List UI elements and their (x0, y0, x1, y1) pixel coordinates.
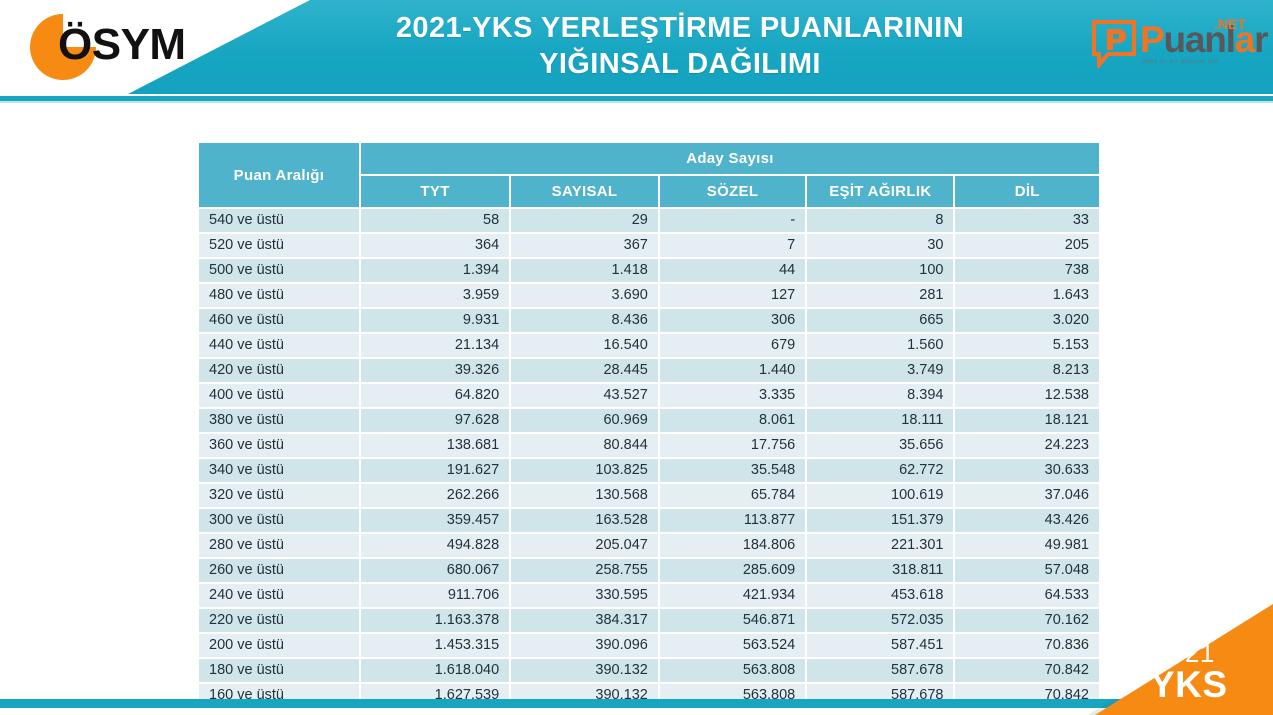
cell-count-sayisal: 60.969 (511, 409, 658, 432)
cell-count-sayisal: 330.595 (511, 584, 658, 607)
cell-count-eşi̇t-ağirlik: 572.035 (807, 609, 953, 632)
cell-count-eşi̇t-ağirlik: 151.379 (807, 509, 953, 532)
table-head: Puan Aralığı Aday Sayısı TYT SAYISAL SÖZ… (199, 143, 1099, 207)
page-title-line-1: 2021-YKS YERLEŞTİRME PUANLARININ (300, 10, 1060, 46)
cell-count-di̇l: 8.213 (955, 359, 1099, 382)
cell-count-sayisal: 16.540 (511, 334, 658, 357)
cell-score-range: 280 ve üstü (199, 534, 359, 557)
cell-count-di̇l: 3.020 (955, 309, 1099, 332)
osym-logo[interactable]: ÖSYM (30, 8, 240, 86)
footer-bar (0, 699, 1273, 708)
cell-count-sayisal: 3.690 (511, 284, 658, 307)
table-row: 420 ve üstü39.32628.4451.4403.7498.213 (199, 359, 1099, 382)
cell-count-sözel: - (660, 209, 805, 232)
cell-score-range: 460 ve üstü (199, 309, 359, 332)
table-row: 340 ve üstü191.627103.82535.54862.77230.… (199, 459, 1099, 482)
cell-count-sayisal: 384.317 (511, 609, 658, 632)
column-header-candidate-count: Aday Sayısı (361, 143, 1099, 174)
puanlar-tagline: daha iyi bir gelecek için (1142, 59, 1219, 65)
cell-score-range: 400 ve üstü (199, 384, 359, 407)
cell-count-eşi̇t-ağirlik: 318.811 (807, 559, 953, 582)
cell-score-range: 440 ve üstü (199, 334, 359, 357)
cell-count-di̇l: 24.223 (955, 434, 1099, 457)
cell-count-sözel: 679 (660, 334, 805, 357)
cell-count-sözel: 1.440 (660, 359, 805, 382)
cell-count-sözel: 306 (660, 309, 805, 332)
table-row: 400 ve üstü64.82043.5273.3358.39412.538 (199, 384, 1099, 407)
column-header-score-range: Puan Aralığı (199, 143, 359, 207)
puanlar-wordmark-r: r (1254, 19, 1267, 60)
cell-score-range: 360 ve üstü (199, 434, 359, 457)
cell-count-eşi̇t-ağirlik: 8.394 (807, 384, 953, 407)
cell-count-di̇l: 70.836 (955, 634, 1099, 657)
table-row: 440 ve üstü21.13416.5406791.5605.153 (199, 334, 1099, 357)
cell-count-sözel: 546.871 (660, 609, 805, 632)
cell-score-range: 480 ve üstü (199, 284, 359, 307)
cell-count-eşi̇t-ağirlik: 665 (807, 309, 953, 332)
table-row: 380 ve üstü97.62860.9698.06118.11118.121 (199, 409, 1099, 432)
cell-count-tyt: 680.067 (361, 559, 509, 582)
cell-count-di̇l: 70.162 (955, 609, 1099, 632)
table-body: 540 ve üstü5829-833520 ve üstü3643677302… (199, 209, 1099, 707)
page-title-line-2: YIĞINSAL DAĞILIMI (300, 46, 1060, 82)
page-title: 2021-YKS YERLEŞTİRME PUANLARININ YIĞINSA… (300, 10, 1060, 82)
puanlar-wordmark-p: P (1140, 19, 1163, 60)
column-header-tyt: TYT (361, 176, 509, 207)
cell-count-sayisal: 258.755 (511, 559, 658, 582)
cell-count-tyt: 21.134 (361, 334, 509, 357)
cell-count-tyt: 97.628 (361, 409, 509, 432)
cell-score-range: 300 ve üstü (199, 509, 359, 532)
cell-score-range: 540 ve üstü (199, 209, 359, 232)
table-row: 300 ve üstü359.457163.528113.877151.3794… (199, 509, 1099, 532)
cell-count-eşi̇t-ağirlik: 30 (807, 234, 953, 257)
cell-count-eşi̇t-ağirlik: 3.749 (807, 359, 953, 382)
cell-count-tyt: 911.706 (361, 584, 509, 607)
cell-count-eşi̇t-ağirlik: 1.560 (807, 334, 953, 357)
cell-count-sayisal: 205.047 (511, 534, 658, 557)
table-row: 480 ve üstü3.9593.6901272811.643 (199, 284, 1099, 307)
cell-count-di̇l: 18.121 (955, 409, 1099, 432)
cell-count-sözel: 35.548 (660, 459, 805, 482)
cell-count-eşi̇t-ağirlik: 100.619 (807, 484, 953, 507)
cell-count-sözel: 113.877 (660, 509, 805, 532)
cell-count-tyt: 494.828 (361, 534, 509, 557)
cell-count-di̇l: 12.538 (955, 384, 1099, 407)
cell-score-range: 220 ve üstü (199, 609, 359, 632)
cell-count-sayisal: 390.132 (511, 659, 658, 682)
cell-count-sayisal: 367 (511, 234, 658, 257)
cell-count-sayisal: 163.528 (511, 509, 658, 532)
table-row: 260 ve üstü680.067258.755285.609318.8115… (199, 559, 1099, 582)
cell-score-range: 240 ve üstü (199, 584, 359, 607)
cell-count-di̇l: 33 (955, 209, 1099, 232)
cell-count-tyt: 1.163.378 (361, 609, 509, 632)
puanlar-net-suffix: .NET (1214, 16, 1246, 32)
cell-score-range: 200 ve üstü (199, 634, 359, 657)
cell-score-range: 380 ve üstü (199, 409, 359, 432)
cell-count-di̇l: 738 (955, 259, 1099, 282)
cell-count-tyt: 138.681 (361, 434, 509, 457)
cell-count-eşi̇t-ağirlik: 35.656 (807, 434, 953, 457)
cell-count-sayisal: 130.568 (511, 484, 658, 507)
cell-count-sayisal: 103.825 (511, 459, 658, 482)
table-row: 180 ve üstü1.618.040390.132563.808587.67… (199, 659, 1099, 682)
cell-count-sözel: 3.335 (660, 384, 805, 407)
table-row: 200 ve üstü1.453.315390.096563.524587.45… (199, 634, 1099, 657)
puanlar-net-logo[interactable]: Puanlar .NET daha iyi bir gelecek için (1092, 12, 1260, 80)
footer-exam-label: YKS (1150, 664, 1228, 706)
cell-count-sözel: 17.756 (660, 434, 805, 457)
table-header-row-top: Puan Aralığı Aday Sayısı (199, 143, 1099, 174)
cell-count-sayisal: 28.445 (511, 359, 658, 382)
cell-count-sözel: 65.784 (660, 484, 805, 507)
cell-count-sayisal: 29 (511, 209, 658, 232)
cell-count-sözel: 285.609 (660, 559, 805, 582)
table-row: 460 ve üstü9.9318.4363066653.020 (199, 309, 1099, 332)
cell-count-sözel: 563.808 (660, 659, 805, 682)
cell-count-tyt: 64.820 (361, 384, 509, 407)
cell-count-di̇l: 1.643 (955, 284, 1099, 307)
cell-count-eşi̇t-ağirlik: 587.451 (807, 634, 953, 657)
table-row: 540 ve üstü5829-833 (199, 209, 1099, 232)
cell-score-range: 260 ve üstü (199, 559, 359, 582)
column-header-esit-agirlik: EŞİT AĞIRLIK (807, 176, 953, 207)
cell-count-di̇l: 49.981 (955, 534, 1099, 557)
cell-count-tyt: 3.959 (361, 284, 509, 307)
table-row: 220 ve üstü1.163.378384.317546.871572.03… (199, 609, 1099, 632)
cell-score-range: 520 ve üstü (199, 234, 359, 257)
cell-count-sözel: 127 (660, 284, 805, 307)
cell-count-tyt: 364 (361, 234, 509, 257)
cell-count-tyt: 1.618.040 (361, 659, 509, 682)
osym-wordmark: ÖSYM (58, 20, 186, 70)
score-distribution-table: Puan Aralığı Aday Sayısı TYT SAYISAL SÖZ… (197, 141, 1101, 709)
cell-count-sözel: 563.524 (660, 634, 805, 657)
cell-count-sözel: 7 (660, 234, 805, 257)
cell-count-tyt: 191.627 (361, 459, 509, 482)
cell-count-sözel: 184.806 (660, 534, 805, 557)
cell-count-di̇l: 205 (955, 234, 1099, 257)
header-rule-secondary (0, 101, 1273, 103)
cell-score-range: 420 ve üstü (199, 359, 359, 382)
cell-count-eşi̇t-ağirlik: 18.111 (807, 409, 953, 432)
table-row: 360 ve üstü138.68180.84417.75635.65624.2… (199, 434, 1099, 457)
table-row: 240 ve üstü911.706330.595421.934453.6186… (199, 584, 1099, 607)
cell-count-sayisal: 8.436 (511, 309, 658, 332)
cell-score-range: 340 ve üstü (199, 459, 359, 482)
cell-count-eşi̇t-ağirlik: 100 (807, 259, 953, 282)
cell-count-di̇l: 57.048 (955, 559, 1099, 582)
cell-count-sayisal: 80.844 (511, 434, 658, 457)
puanlar-wordmark: Puanlar (1140, 20, 1267, 60)
cell-count-eşi̇t-ağirlik: 453.618 (807, 584, 953, 607)
cell-count-eşi̇t-ağirlik: 587.678 (807, 659, 953, 682)
cell-score-range: 500 ve üstü (199, 259, 359, 282)
cell-count-sayisal: 1.418 (511, 259, 658, 282)
cell-count-eşi̇t-ağirlik: 8 (807, 209, 953, 232)
cell-count-di̇l: 70.842 (955, 659, 1099, 682)
table-row: 520 ve üstü364367730205 (199, 234, 1099, 257)
cell-count-di̇l: 5.153 (955, 334, 1099, 357)
column-header-dil: DİL (955, 176, 1099, 207)
cell-count-di̇l: 43.426 (955, 509, 1099, 532)
cell-count-eşi̇t-ağirlik: 281 (807, 284, 953, 307)
cell-count-tyt: 39.326 (361, 359, 509, 382)
table-row: 500 ve üstü1.3941.41844100738 (199, 259, 1099, 282)
page-header: 2021-YKS YERLEŞTİRME PUANLARININ YIĞINSA… (0, 0, 1273, 94)
speech-bubble-p-icon (1092, 20, 1136, 68)
cell-count-eşi̇t-ağirlik: 62.772 (807, 459, 953, 482)
cell-count-tyt: 1.394 (361, 259, 509, 282)
cell-count-eşi̇t-ağirlik: 221.301 (807, 534, 953, 557)
cell-count-di̇l: 30.633 (955, 459, 1099, 482)
cell-count-tyt: 359.457 (361, 509, 509, 532)
cell-count-sözel: 8.061 (660, 409, 805, 432)
cell-score-range: 320 ve üstü (199, 484, 359, 507)
cell-count-tyt: 9.931 (361, 309, 509, 332)
cell-count-sayisal: 43.527 (511, 384, 658, 407)
cell-count-sözel: 44 (660, 259, 805, 282)
cell-count-tyt: 58 (361, 209, 509, 232)
cell-count-sözel: 421.934 (660, 584, 805, 607)
table-row: 280 ve üstü494.828205.047184.806221.3014… (199, 534, 1099, 557)
column-header-sayisal: SAYISAL (511, 176, 658, 207)
cell-count-di̇l: 64.533 (955, 584, 1099, 607)
table-row: 320 ve üstü262.266130.56865.784100.61937… (199, 484, 1099, 507)
cell-score-range: 180 ve üstü (199, 659, 359, 682)
cell-count-tyt: 1.453.315 (361, 634, 509, 657)
cell-count-tyt: 262.266 (361, 484, 509, 507)
column-header-sozel: SÖZEL (660, 176, 805, 207)
cell-count-di̇l: 37.046 (955, 484, 1099, 507)
cell-count-sayisal: 390.096 (511, 634, 658, 657)
